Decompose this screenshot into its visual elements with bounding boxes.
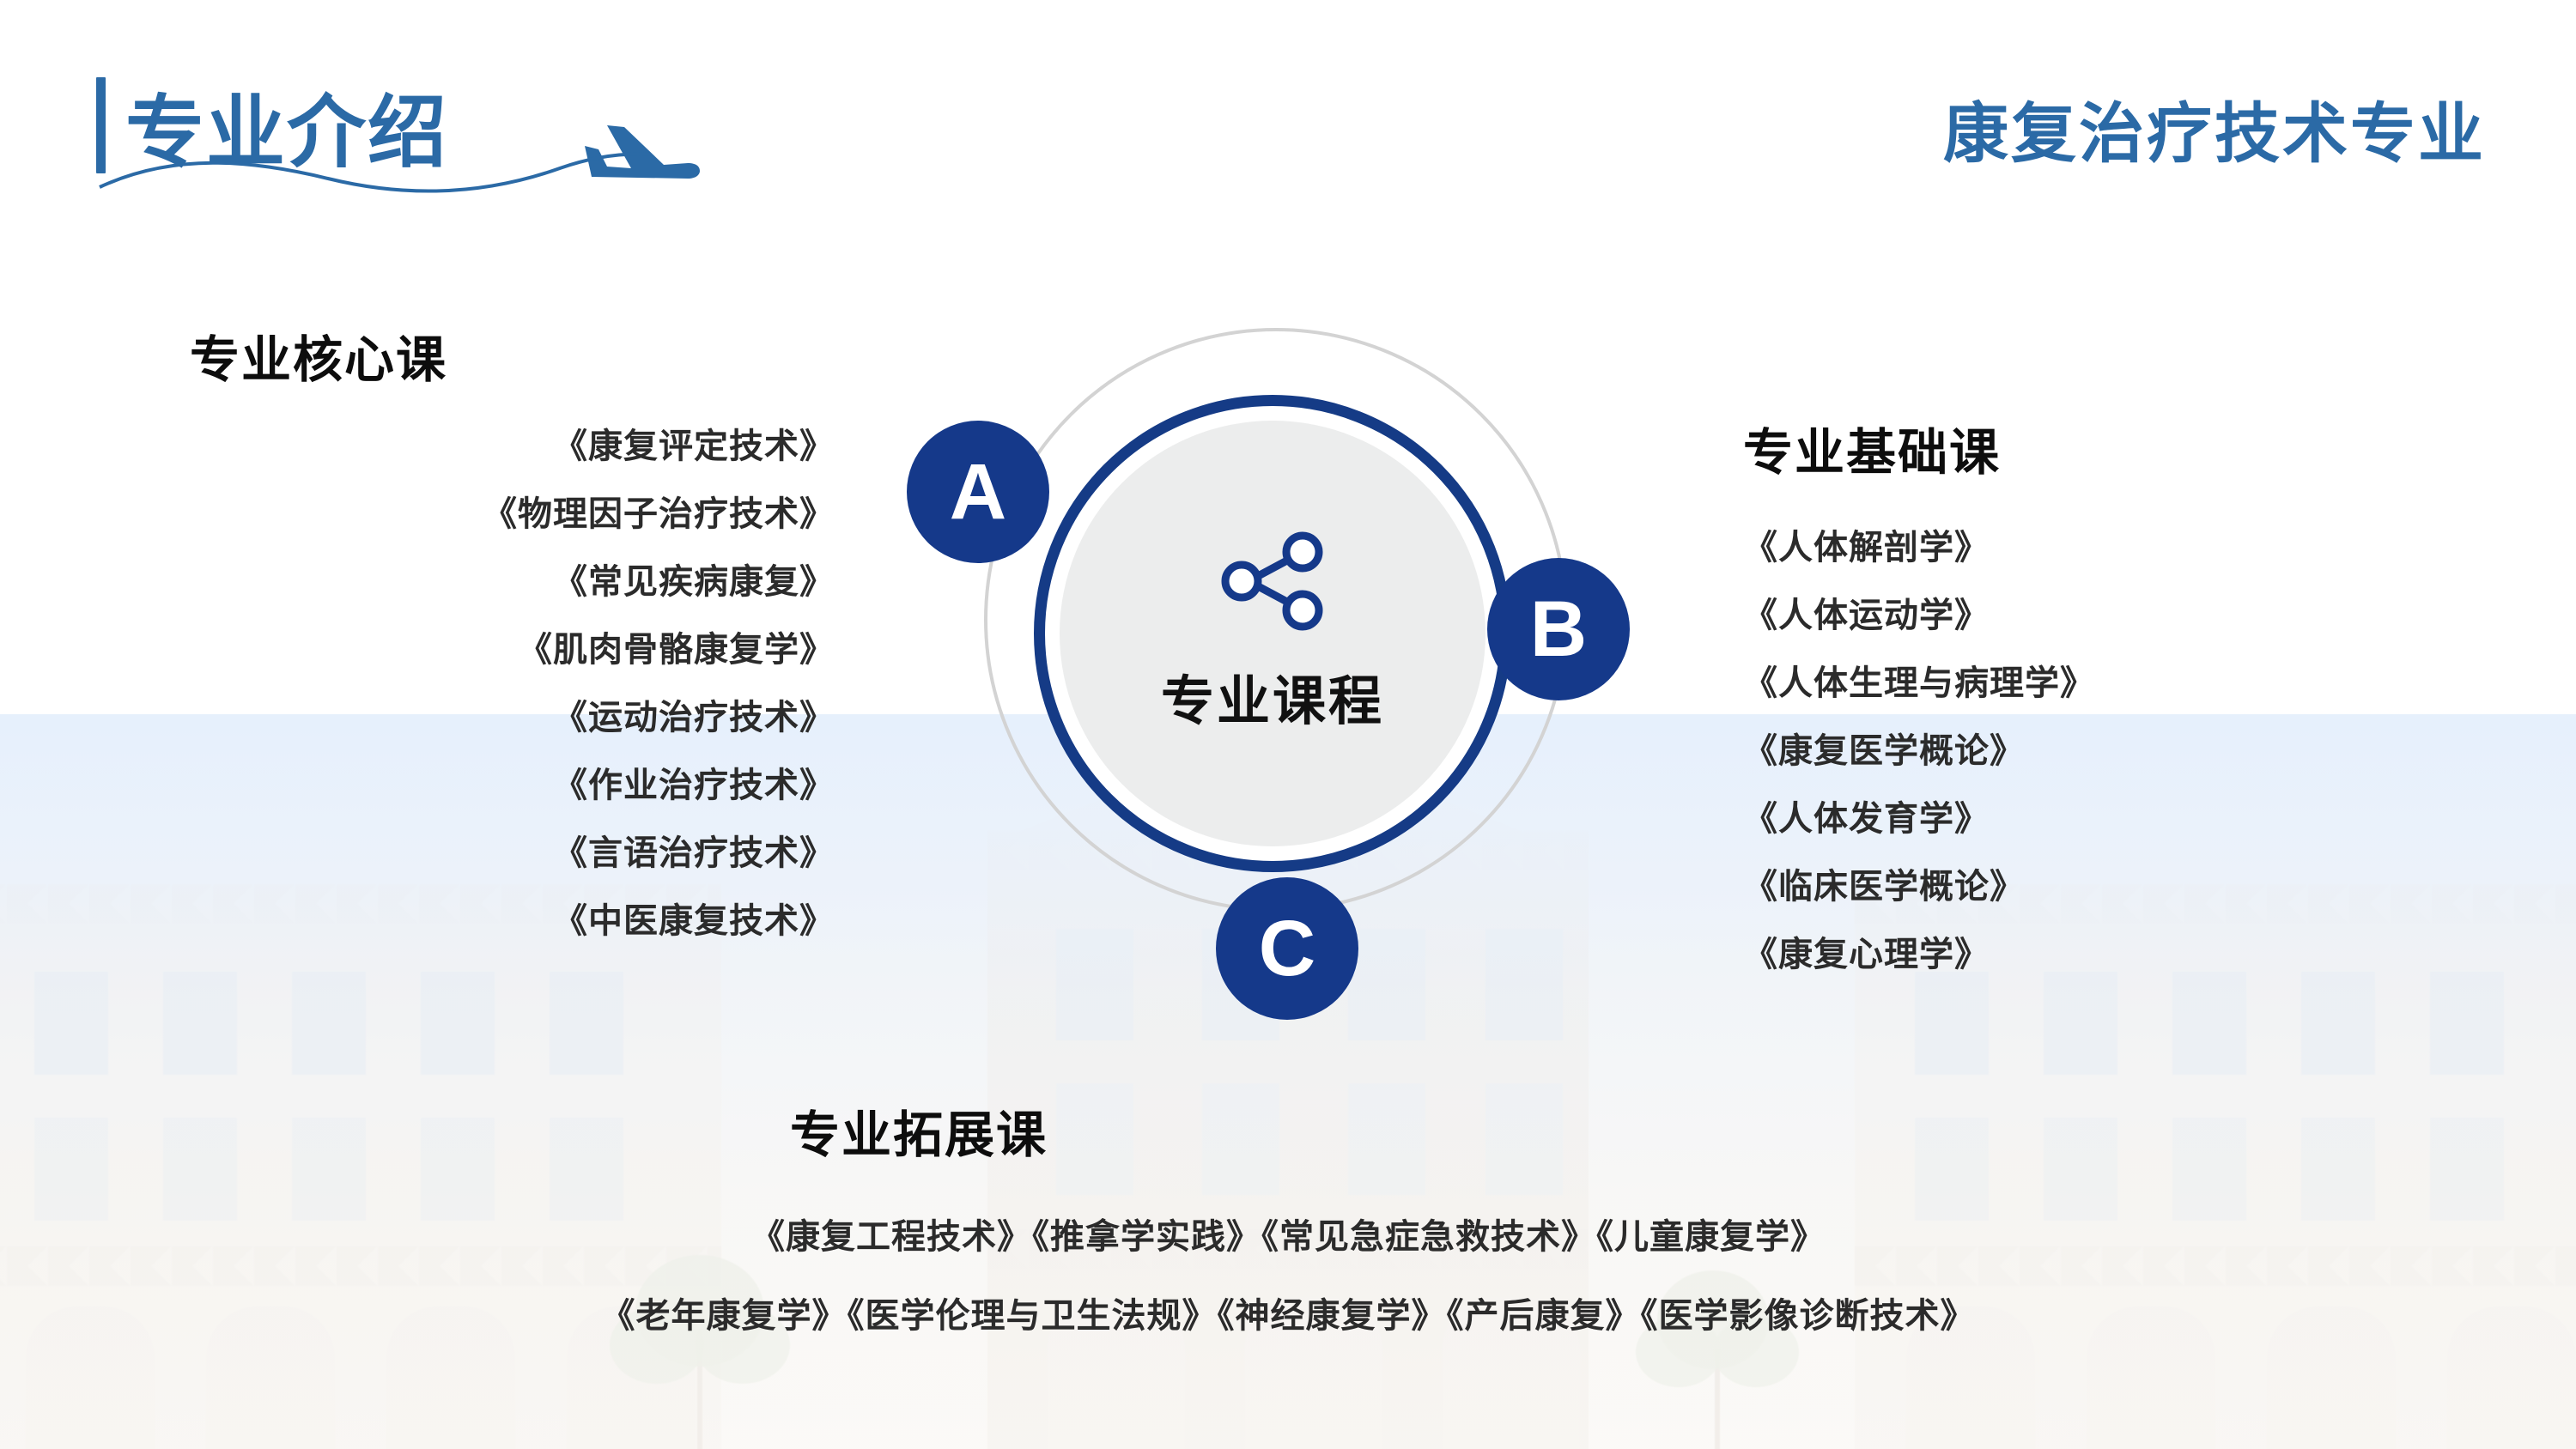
node-badge-c[interactable]: C	[1216, 877, 1358, 1020]
list-item: 《康复评定技术》	[0, 429, 835, 464]
list-item: 《康复工程技术》《推拿学实践》《常见急症急救技术》《儿童康复学》	[0, 1220, 2576, 1254]
column-extension-courses: 专业拓展课 《康复工程技术》《推拿学实践》《常见急症急救技术》《儿童康复学》 《…	[0, 1094, 2576, 1378]
list-item: 《肌肉骨骼康复学》	[0, 633, 835, 667]
list-item: 《作业治疗技术》	[0, 768, 835, 803]
list-item: 《言语治疗技术》	[0, 836, 835, 870]
list-item: 《人体生理与病理学》	[1743, 666, 2516, 700]
center-circle: 专业课程	[1060, 421, 1485, 846]
list-item: 《运动治疗技术》	[0, 700, 835, 735]
column-extension-heading: 专业拓展课	[790, 1094, 2576, 1167]
share-nodes-icon	[1216, 524, 1329, 642]
column-basic-courses: 专业基础课 《人体解剖学》 《人体运动学》 《人体生理与病理学》 《康复医学概论…	[1743, 412, 2516, 1005]
major-name-title: 康复治疗技术专业	[1943, 81, 2486, 175]
slide-canvas: 专业介绍 康复治疗技术专业 专业核心课 《康复评定技术》 《物理因子治疗技术》 …	[0, 0, 2576, 1449]
wave-underline-icon	[96, 148, 654, 203]
list-item: 《人体运动学》	[1743, 598, 2516, 633]
list-item: 《康复心理学》	[1743, 937, 2516, 972]
list-item: 《常见疾病康复》	[0, 565, 835, 599]
list-item: 《人体解剖学》	[1743, 530, 2516, 565]
list-item: 《中医康复技术》	[0, 904, 835, 938]
list-item: 《物理因子治疗技术》	[0, 497, 835, 531]
list-item: 《临床医学概论》	[1743, 870, 2516, 904]
column-core-heading: 专业核心课	[0, 319, 835, 391]
center-label: 专业课程	[1161, 658, 1384, 735]
column-core-courses: 专业核心课 《康复评定技术》 《物理因子治疗技术》 《常见疾病康复》 《肌肉骨骼…	[0, 319, 867, 972]
node-badge-a[interactable]: A	[907, 421, 1049, 563]
list-item: 《老年康复学》《医学伦理与卫生法规》《神经康复学》《产后康复》《医学影像诊断技术…	[0, 1299, 2576, 1333]
center-diagram: 专业课程 A B C	[984, 328, 1585, 929]
list-item: 《康复医学概论》	[1743, 734, 2516, 768]
list-item: 《人体发育学》	[1743, 802, 2516, 836]
node-badge-b[interactable]: B	[1487, 558, 1630, 700]
column-basic-heading: 专业基础课	[1743, 412, 2516, 484]
